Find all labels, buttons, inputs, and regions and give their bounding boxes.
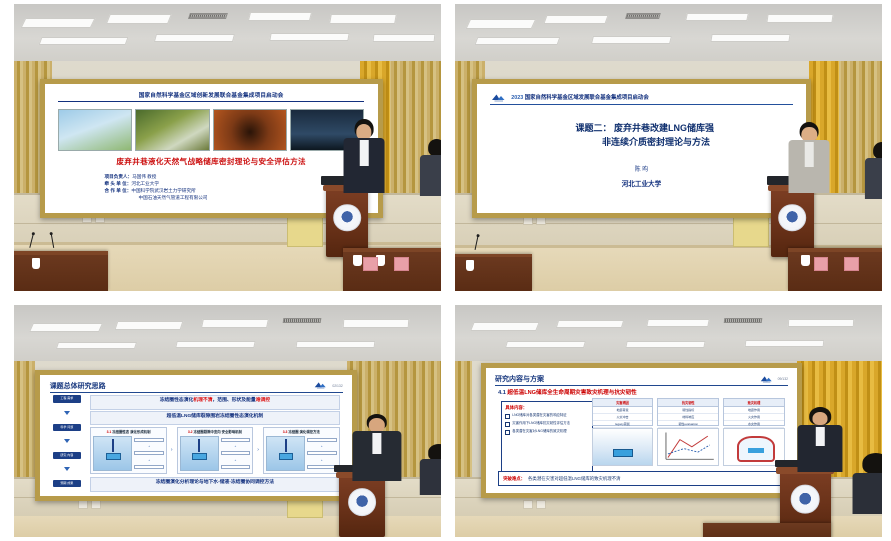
card-diagram (266, 436, 305, 471)
content-bullet: LNG储库对各类潜在灾害的响应特征 (505, 413, 589, 419)
slide-4-table-row: 灾害溯因 地震荷载 火灾冲击 legacy荷载 抗灾韧性 韧性指标 材料响应 韧… (592, 398, 785, 426)
table-row: 火灾冲击 (593, 414, 653, 421)
slide-4-page-number: 09/132 (778, 377, 788, 381)
room-2: 2023 国家自然科学基金区域发展联合基金集成项目启动会 课题二： 废弃井巷改建… (455, 4, 882, 291)
ceiling (455, 305, 882, 365)
note-label: 突破难点： (503, 476, 525, 482)
content-bullet: 灾害作用下LNG储库抗灾韧性评估方法 (505, 421, 589, 427)
attendee-person (420, 139, 441, 196)
university-emblem-icon (333, 204, 361, 232)
speaker-person-1 (343, 119, 386, 194)
podium-3 (339, 472, 386, 537)
slide-2-header-text: 2023 国家自然科学基金区域发展联合基金集成项目启动会 (511, 93, 649, 101)
wood-slat-wall-left (455, 361, 472, 496)
table-row: 韧性指标 (658, 407, 718, 414)
card-item-list: + + (134, 436, 164, 471)
head-table-right (788, 248, 882, 291)
table-row: 水灾作用 (724, 421, 784, 428)
teacup-icon (32, 258, 40, 269)
slide-2: 2023 国家自然科学基金区域发展联合基金集成项目启动会 课题二： 废弃井巷改建… (477, 84, 806, 213)
flow-arrow-icon (64, 439, 70, 443)
projection-screen-3: 课题总体研究思路 02/132 (35, 370, 357, 501)
mountain-logo-icon (759, 375, 775, 384)
data-table: 致灾机理 地震作用 火灾作用 水灾作用 (723, 398, 785, 426)
checkbox-icon (505, 430, 510, 435)
table-row: legacy荷载 (593, 421, 653, 428)
teacup-icon (466, 260, 474, 270)
nameplate (844, 257, 859, 272)
flow-arrow-icon (64, 411, 70, 415)
slide-3-outcome-row: 冻结圈演化分析理论与地下水-储液-冻结圈协同调控方法 (90, 477, 339, 491)
room-3: 课题总体研究思路 02/132 (14, 305, 441, 537)
list-item (134, 438, 164, 442)
slide-1-main-title: 废弃井巷液化天然气战略储库密封理论与安全评估方法 (55, 156, 368, 167)
university-emblem-icon (791, 485, 820, 514)
slide-2-title: 课题二： 废弃井巷改建LNG储库强 非连续介质密封理论与方法 (503, 122, 786, 149)
list-item (134, 451, 164, 455)
list-item (134, 465, 164, 469)
panel-4-photo: 研究内容与方案 09/132 (455, 305, 882, 537)
data-table: 灾害溯因 地震荷载 火灾冲击 legacy荷载 (592, 398, 654, 426)
slide-4-content-box: 具体内容： LNG储库对各类潜在灾害的响应特征 灾害作用下LNG储库抗灾韧性评估… (501, 401, 593, 474)
list-item (307, 465, 337, 469)
table-header: 灾害溯因 (593, 399, 653, 407)
arrow-right-icon: › (171, 447, 173, 453)
head-table-left (455, 254, 532, 291)
card-diagram (93, 436, 132, 471)
meta-row: 合 作 单 位：中国科学院武汉岩土力学研究所 (105, 187, 208, 194)
slide-3-page-number: 02/132 (332, 384, 342, 388)
checkbox-icon (505, 414, 510, 419)
speaker-person-3 (351, 414, 402, 481)
slide-1-image-strip (58, 109, 364, 150)
panel-3-photo: 课题总体研究思路 02/132 (14, 305, 441, 537)
attendee-person (865, 142, 882, 199)
ceiling (14, 305, 441, 365)
list-item (221, 465, 251, 469)
checkbox-icon (505, 422, 510, 427)
meta-row: 牵 头 单 位：河北工业大学 (105, 180, 208, 187)
mountain-logo-icon (313, 381, 329, 390)
table-header: 抗灾韧性 (658, 399, 718, 407)
list-item (307, 438, 337, 442)
slide-3-card: 3.1 冻结圈性态 演化形成机制 + + (90, 427, 167, 474)
room-4: 研究内容与方案 09/132 (455, 305, 882, 537)
slide-4-figure-row (592, 428, 785, 466)
slide-3-title: 课题总体研究思路 (50, 381, 106, 391)
slide-4-breakthrough-note: 突破难点： 各类潜在灾害对超低温LNG储库的致灾机理不清 (498, 471, 785, 487)
slide-image-mine-terrain (135, 109, 209, 150)
wall-outlet-icon (91, 500, 101, 509)
slide-3-mechanism-row: 超低温LNG储库裂隙围岩冻结圈性态演化机制 (90, 411, 339, 425)
speaker-person-4 (797, 407, 844, 472)
flow-step: 研究 内容 (53, 452, 81, 459)
note-text: 各类潜在灾害对超低温LNG储库的致灾机理不清 (528, 476, 620, 482)
ceiling (14, 4, 441, 67)
data-table: 抗灾韧性 韧性指标 材料响应 韧性evaluation (657, 398, 719, 426)
teacup-icon (353, 255, 362, 266)
slide-3-card: 3.2 冻结圈裂隙中变向 安全影响机制 + + (177, 427, 254, 474)
university-emblem-icon (348, 488, 376, 516)
nameplate (814, 257, 829, 272)
podium-1 (326, 185, 369, 257)
slide-4: 研究内容与方案 09/132 (486, 368, 798, 493)
slide-1-header: 国家自然科学基金区域创新发展联合基金集成项目启动会 (58, 91, 364, 99)
slide-image-tunnel-interior (213, 109, 287, 150)
photo-collage: 国家自然科学基金区域创新发展联合基金集成项目启动会 废弃井巷液化天然气战略储库密… (0, 0, 891, 541)
card-diagram (180, 436, 219, 471)
flow-arrow-icon (64, 467, 70, 471)
table-row: 材料响应 (658, 414, 718, 421)
table-row: 韧性evaluation (658, 421, 718, 428)
projection-screen-4: 研究内容与方案 09/132 (481, 363, 803, 498)
front-table (703, 523, 831, 537)
card-item-list: + + (307, 436, 337, 471)
ceiling-vent-icon (625, 13, 661, 19)
slide-2-header-bar: 2023 国家自然科学基金区域发展联合基金集成项目启动会 (490, 93, 793, 105)
list-item (307, 451, 337, 455)
panel-1-photo: 国家自然科学基金区域创新发展联合基金集成项目启动会 废弃井巷液化天然气战略储库密… (14, 4, 441, 291)
slide-1-meta: 项目负责人：马国伟 教授 牵 头 单 位：河北工业大学 合 作 单 位：中国科学… (105, 173, 208, 201)
flow-step: 预期 成果 (53, 480, 81, 487)
room-1: 国家自然科学基金区域创新发展联合基金集成项目启动会 废弃井巷液化天然气战略储库密… (14, 4, 441, 291)
head-table-left (14, 251, 108, 291)
teacup-icon (801, 255, 810, 266)
figure-response-curve (657, 428, 719, 466)
wood-slat-wall-left (14, 361, 35, 496)
slide-2-presenter: 陈 昀 (477, 164, 806, 173)
speaker-person-2 (788, 122, 831, 194)
university-emblem-icon (779, 204, 807, 232)
slide-4-header-bar: 研究内容与方案 09/132 (495, 374, 788, 386)
nameplate (363, 257, 378, 272)
slide-image-storage-tanks (58, 109, 132, 150)
slide-3-flow-column: 工程 需求 科学 问题 研究 内容 预期 成果 (53, 395, 81, 487)
content-box-title: 具体内容： (505, 405, 589, 411)
attendee-person (420, 444, 441, 495)
podium-2 (771, 185, 814, 257)
meta-row: 中国石油天然气管道工程有限公司 (105, 194, 208, 201)
ceiling-vent-icon (188, 13, 228, 19)
table-row: 地震荷载 (593, 407, 653, 414)
head-table-right (343, 248, 441, 291)
ceiling-vent-icon (283, 318, 322, 323)
slide-1-header-block: 国家自然科学基金区域创新发展联合基金集成项目启动会 (58, 91, 364, 102)
wall-outlet-icon (536, 500, 546, 509)
slide-3-card: 3.3 冻结圈 演化调控方法 + + (263, 427, 340, 474)
slide-4-title: 研究内容与方案 (495, 374, 544, 384)
nameplate (394, 257, 409, 272)
flow-step: 工程 需求 (53, 395, 81, 402)
projection-screen-2: 2023 国家自然科学基金区域发展联合基金集成项目启动会 课题二： 废弃井巷改建… (472, 79, 811, 218)
attendee-person (852, 453, 882, 513)
slide-3-problem-row: 冻结圈性态演化机理不清，范围、形状及能量难调控 (90, 395, 339, 409)
list-item (221, 451, 251, 455)
slide-2-organization: 河北工业大学 (477, 178, 806, 188)
table-row: 地震作用 (724, 407, 784, 414)
flow-step: 科学 问题 (53, 424, 81, 431)
mountain-logo-icon (490, 93, 506, 102)
arrow-right-icon: › (257, 447, 259, 453)
content-bullet: 各类潜在灾害对LNG储库的致灾机理 (505, 429, 589, 435)
wall-outlet-icon (78, 500, 88, 509)
slide-3: 课题总体研究思路 02/132 (40, 375, 352, 496)
card-item-list: + + (221, 436, 251, 471)
meta-row: 项目负责人：马国伟 教授 (105, 173, 208, 180)
table-header: 致灾机理 (724, 399, 784, 407)
wall-outlet-icon (523, 500, 533, 509)
slide-3-card-row: 3.1 冻结圈性态 演化形成机制 + + › (90, 427, 339, 474)
slide-4-section-heading: 4.1 超低温LNG储库全生命周期灾害致灾机理与抗灾韧性 (498, 388, 637, 396)
ceiling (455, 4, 882, 67)
figure-storage-section (592, 428, 654, 466)
list-item (221, 438, 251, 442)
panel-2-photo: 2023 国家自然科学基金区域发展联合基金集成项目启动会 课题二： 废弃井巷改建… (455, 4, 882, 291)
ceiling-vent-icon (724, 318, 763, 323)
slide-3-header-bar: 课题总体研究思路 02/132 (50, 381, 343, 393)
table-row: 火灾作用 (724, 414, 784, 421)
